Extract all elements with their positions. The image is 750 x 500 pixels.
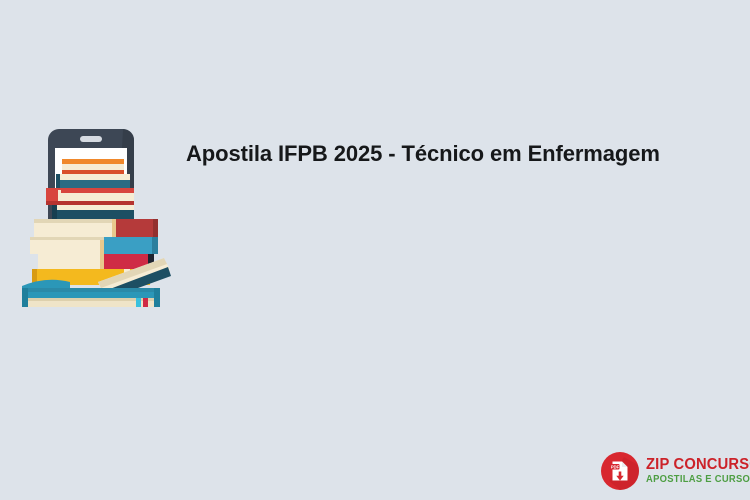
book-navy-fourth [52, 205, 134, 219]
product-banner: Apostila IFPB 2025 - Técnico em Enfermag… [0, 0, 750, 500]
product-title: Apostila IFPB 2025 - Técnico em Enfermag… [186, 140, 706, 168]
book-teal-second [56, 174, 130, 188]
brand-tagline: APOSTILAS E CURSOS [646, 475, 750, 485]
book-orange-top [62, 159, 124, 174]
book-crimson-seventh [38, 254, 154, 269]
books-illustration [12, 120, 174, 310]
brand-wordmark: ZIP CONCURSOS APOSTILAS E CURSOS [646, 457, 750, 485]
pdf-download-circle-icon: PDF [600, 451, 640, 491]
brand-name: ZIP CONCURSOS [646, 457, 750, 473]
book-blue-sixth [30, 237, 158, 254]
book-darkred-fifth [34, 219, 158, 237]
brand-logo[interactable]: PDF ZIP CONCURSOS APOSTILAS E CURSOS [600, 450, 742, 492]
svg-text:PDF: PDF [611, 464, 620, 469]
book-red-third [46, 188, 134, 205]
